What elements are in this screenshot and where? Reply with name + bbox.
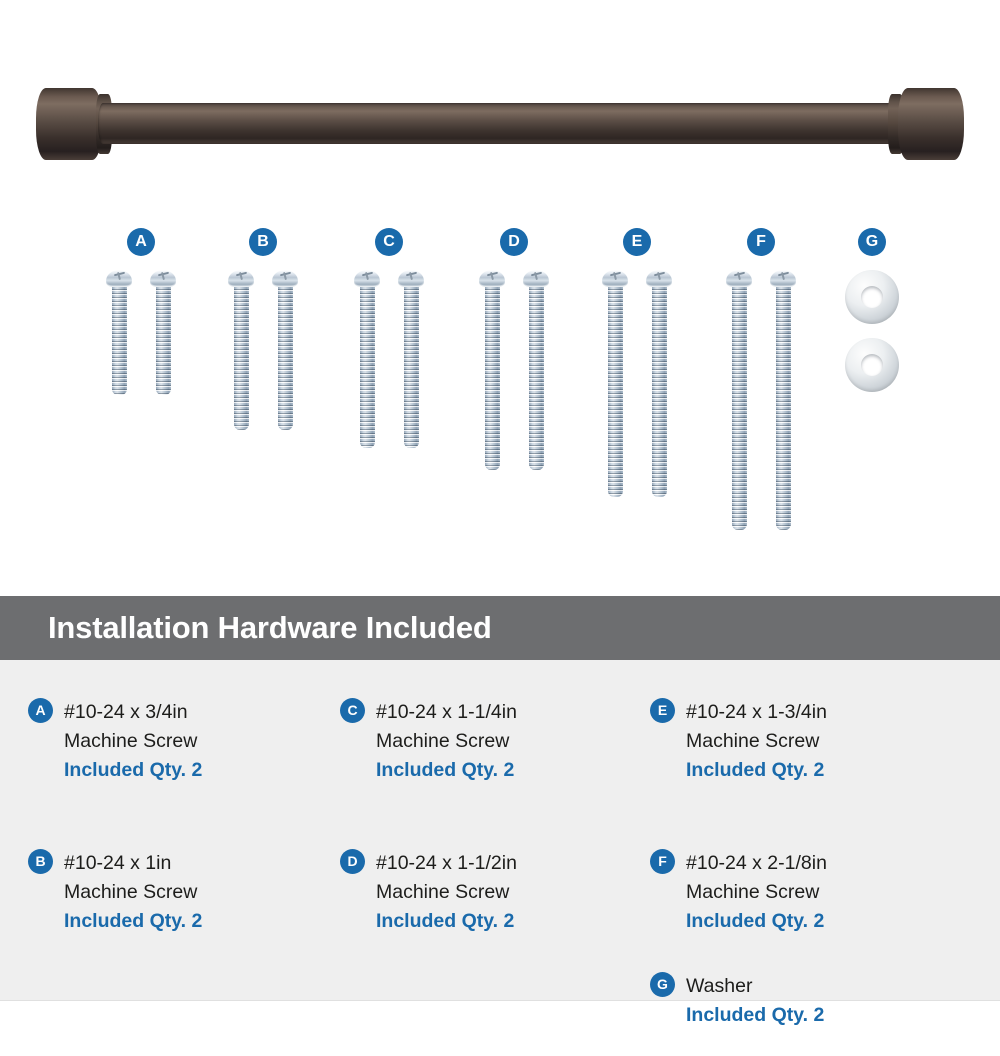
hardware-header-bar: Installation Hardware Included bbox=[0, 596, 1000, 660]
legend-badge-c: C bbox=[340, 698, 365, 723]
hardware-group-f: F bbox=[701, 228, 821, 530]
screw-shank bbox=[529, 285, 544, 470]
washer-hole bbox=[861, 286, 883, 308]
legend-kind: Machine Screw bbox=[376, 878, 660, 907]
bar-shaft bbox=[98, 103, 906, 144]
legend-column-2: C #10-24 x 1-1/4in Machine Screw Include… bbox=[340, 660, 660, 962]
screw-shank bbox=[112, 285, 127, 395]
screw-head bbox=[523, 270, 549, 287]
screw-icon bbox=[523, 270, 549, 470]
screw-icon bbox=[479, 270, 505, 470]
legend-item-f: F #10-24 x 2-1/8in Machine Screw Include… bbox=[650, 811, 970, 936]
legend-badge-f: F bbox=[650, 849, 675, 874]
legend-qty: Included Qty. 2 bbox=[376, 907, 660, 936]
hardware-group-c: C bbox=[329, 228, 449, 448]
hardware-legend-panel: A #10-24 x 3/4in Machine Screw Included … bbox=[0, 660, 1000, 1001]
legend-column-3: E #10-24 x 1-3/4in Machine Screw Include… bbox=[650, 660, 970, 1056]
screw-head bbox=[150, 270, 176, 287]
screw-icon bbox=[272, 270, 298, 430]
washer-icon bbox=[845, 338, 899, 392]
hardware-items-d bbox=[454, 270, 574, 470]
hardware-group-e: E bbox=[577, 228, 697, 497]
legend-item-g: G Washer Included Qty. 2 bbox=[650, 962, 970, 1030]
legend-badge-g: G bbox=[650, 972, 675, 997]
hardware-badge-b: B bbox=[249, 228, 277, 256]
page-title: Installation Hardware Included bbox=[0, 610, 492, 646]
bar-end-cap-left bbox=[36, 88, 102, 160]
legend-item-a: A #10-24 x 3/4in Machine Screw Included … bbox=[28, 660, 348, 785]
screw-icon bbox=[228, 270, 254, 430]
legend-kind: Machine Screw bbox=[64, 727, 348, 756]
screw-shank bbox=[732, 285, 747, 530]
screw-shank bbox=[156, 285, 171, 395]
towel-bar-product bbox=[36, 88, 964, 160]
hardware-items-e bbox=[577, 270, 697, 497]
legend-qty: Included Qty. 2 bbox=[376, 756, 660, 785]
hardware-badge-e: E bbox=[623, 228, 651, 256]
washer-icon bbox=[845, 270, 899, 324]
washer-hole bbox=[861, 354, 883, 376]
screw-head bbox=[726, 270, 752, 287]
hardware-badge-f: F bbox=[747, 228, 775, 256]
screw-icon bbox=[646, 270, 672, 497]
legend-spec: Washer bbox=[686, 972, 970, 1001]
screw-head bbox=[479, 270, 505, 287]
screw-icon bbox=[726, 270, 752, 530]
legend-badge-a: A bbox=[28, 698, 53, 723]
legend-kind: Machine Screw bbox=[686, 727, 970, 756]
legend-badge-e: E bbox=[650, 698, 675, 723]
legend-qty: Included Qty. 2 bbox=[64, 907, 348, 936]
legend-item-e: E #10-24 x 1-3/4in Machine Screw Include… bbox=[650, 660, 970, 785]
legend-kind: Machine Screw bbox=[64, 878, 348, 907]
legend-spec: #10-24 x 1-1/2in bbox=[376, 849, 660, 878]
legend-item-d: D #10-24 x 1-1/2in Machine Screw Include… bbox=[340, 811, 660, 936]
screw-shank bbox=[234, 285, 249, 430]
legend-spec: #10-24 x 1in bbox=[64, 849, 348, 878]
screw-head bbox=[602, 270, 628, 287]
hardware-items-a bbox=[81, 270, 201, 395]
screw-icon bbox=[770, 270, 796, 530]
screw-head bbox=[354, 270, 380, 287]
screw-head bbox=[228, 270, 254, 287]
hardware-badge-a: A bbox=[127, 228, 155, 256]
legend-spec: #10-24 x 3/4in bbox=[64, 698, 348, 727]
washer-stack bbox=[845, 270, 899, 392]
screw-shank bbox=[608, 285, 623, 497]
hardware-items-f bbox=[701, 270, 821, 530]
hardware-group-g: G bbox=[812, 228, 932, 392]
legend-kind: Machine Screw bbox=[376, 727, 660, 756]
legend-spec: #10-24 x 2-1/8in bbox=[686, 849, 970, 878]
hardware-badge-d: D bbox=[500, 228, 528, 256]
legend-spec: #10-24 x 1-3/4in bbox=[686, 698, 970, 727]
screw-icon bbox=[602, 270, 628, 497]
legend-qty: Included Qty. 2 bbox=[64, 756, 348, 785]
legend-spec: #10-24 x 1-1/4in bbox=[376, 698, 660, 727]
hardware-badge-g: G bbox=[858, 228, 886, 256]
screw-icon bbox=[398, 270, 424, 448]
hardware-group-d: D bbox=[454, 228, 574, 470]
bar-end-cap-right bbox=[898, 88, 964, 160]
screw-shank bbox=[360, 285, 375, 448]
screw-head bbox=[272, 270, 298, 287]
hardware-group-b: B bbox=[203, 228, 323, 430]
hardware-group-a: A bbox=[81, 228, 201, 395]
legend-qty: Included Qty. 2 bbox=[686, 1001, 970, 1030]
screw-head bbox=[770, 270, 796, 287]
legend-column-1: A #10-24 x 3/4in Machine Screw Included … bbox=[28, 660, 348, 962]
hardware-items-c bbox=[329, 270, 449, 448]
screw-head bbox=[398, 270, 424, 287]
legend-qty: Included Qty. 2 bbox=[686, 756, 970, 785]
screw-head bbox=[646, 270, 672, 287]
hardware-items-g bbox=[812, 270, 932, 392]
screw-icon bbox=[354, 270, 380, 448]
screw-icon bbox=[150, 270, 176, 395]
legend-item-c: C #10-24 x 1-1/4in Machine Screw Include… bbox=[340, 660, 660, 785]
screw-shank bbox=[776, 285, 791, 530]
screw-icon bbox=[106, 270, 132, 395]
product-image-area: A B C bbox=[0, 0, 1000, 596]
screw-shank bbox=[485, 285, 500, 470]
legend-badge-d: D bbox=[340, 849, 365, 874]
screw-shank bbox=[278, 285, 293, 430]
legend-kind: Machine Screw bbox=[686, 878, 970, 907]
legend-item-b: B #10-24 x 1in Machine Screw Included Qt… bbox=[28, 811, 348, 936]
legend-qty: Included Qty. 2 bbox=[686, 907, 970, 936]
legend-badge-b: B bbox=[28, 849, 53, 874]
screw-shank bbox=[652, 285, 667, 497]
screw-shank bbox=[404, 285, 419, 448]
screw-head bbox=[106, 270, 132, 287]
hardware-items-b bbox=[203, 270, 323, 430]
hardware-badge-c: C bbox=[375, 228, 403, 256]
